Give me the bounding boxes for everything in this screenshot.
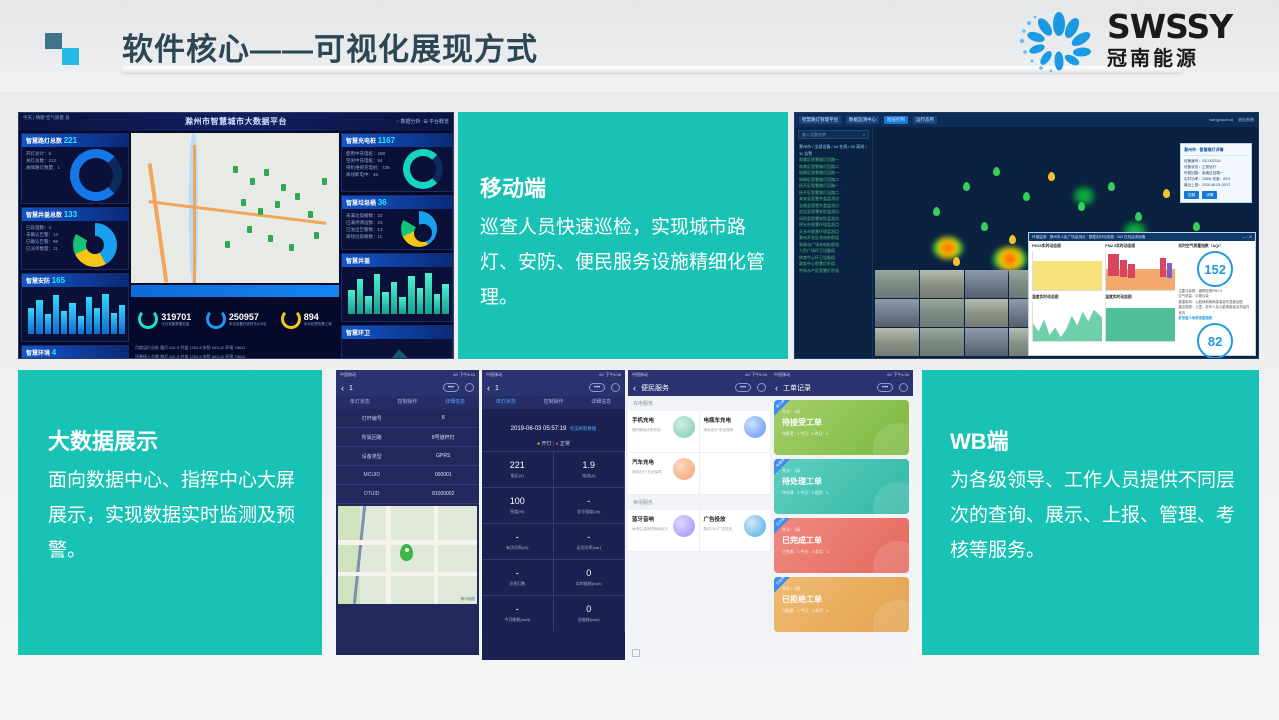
device-tree: 滁州市 / 全部设备 / 44 在线 / 69 离线 / 11 告警 南谯区智慧… [795,142,872,276]
map-marker[interactable] [1135,212,1142,221]
camera-feed[interactable] [965,270,1009,298]
card-header: 智慧井盖 [342,254,452,267]
metrics-grid: 221 电压(V) 1.9 电流(A) 100 亮度(%) - 信号强度(db)… [482,451,625,631]
chart-pm10: PM10实时动态图 温度实时动态图 [1032,244,1102,358]
advertising-icon [744,515,766,537]
card-kv-list: 已处理数：4未确认告警：14已确认告警：99已派单数量：11 [22,221,62,269]
more-icon[interactable]: ••• [589,383,605,392]
dashboard-topbar: 今天 | 晴朗 空气质量 良 滁州市智慧城市大数据平台 ∷ 数据分析 ⊞ 平台概… [19,113,453,131]
timestamp: 2019-06-03 05:57:19 [511,426,567,432]
map-marker[interactable] [322,178,327,185]
area-chart [342,339,452,359]
analytics-title-bar: 环境监测 · 滁州市人民广场监测点 · 数据实时动态图 · 162 在线监测设备… [1029,233,1255,241]
card-count: 共计：1条 [782,527,901,533]
menu-monitor-center[interactable]: 数据监测中心 [846,116,879,124]
aqi-subtitle: 舒适度人体舒适度指数 [1178,316,1252,321]
service-desc: 随时随地手机充电 [632,428,661,433]
chart-pm25: PM2.5实时动态图 湿度实时动态图 [1105,244,1175,358]
comfort-value-circle: 82 [1197,323,1233,358]
map-marker[interactable] [247,226,252,233]
square-cyan-icon [62,48,79,65]
more-icon[interactable]: ••• [877,383,893,392]
service-item[interactable]: 蓝牙音响 休闲生活随时随地欢乐 [628,510,700,552]
metric-cell: 0 实时能耗(kwh) [554,559,626,595]
carrier-label: 中国移动 [774,372,790,378]
card-header: 智慧环境 4 [22,346,128,359]
mobile-block-body: 巡查人员快速巡检，实现城市路灯、安防、便民服务设施精细化管理。 [480,210,766,315]
phone-status-bar: 中国移动 4G 下午5:36 [482,370,625,380]
map-marker[interactable] [1009,235,1016,244]
tree-item[interactable]: 中央水产区智慧灯杆组 [799,268,868,275]
wb-description-block: WB端 为各级领导、工作人员提供不同层次的查询、展示、上报、管理、考核等服务。 [922,370,1259,655]
service-item-empty [700,453,772,495]
dashboard-left-column: 智慧路灯总数 221 开灯总计：8关灯总数：212故障路灯数量：1 智慧井盖总数… [21,133,129,356]
service-title: 汽车充电 [632,458,662,466]
pie-chart [73,223,117,267]
popup-row: 最近上报：2019-06-03 05:57 [1184,182,1248,188]
map-marker[interactable] [1048,172,1055,181]
map-marker[interactable] [295,193,300,200]
tab-control[interactable]: 控制操作 [530,396,578,409]
environment-analytics-window: 环境监测 · 滁州市人民广场监测点 · 数据实时动态图 · 162 在线监测设备… [1028,232,1256,356]
camera-feed[interactable] [920,299,964,327]
card-label: 智慧环卫 [346,328,370,337]
web-topbar: 智慧路灯管理平台 数据监测中心 图层控制 运行态势 wangxiaohua 退出… [795,113,1258,127]
menu-platform[interactable]: 智慧路灯管理平台 [799,116,841,124]
status-right: 4G 下午5:34 [745,372,767,378]
map-marker[interactable] [933,207,940,216]
bar-series [348,270,449,314]
card-value: 36 [378,198,387,207]
target-icon[interactable] [465,383,474,392]
row-value: 81000002 [408,491,480,497]
chart-plot [1032,251,1102,291]
row-value: 8号道杆灯 [408,434,480,441]
carrier-label: 中国移动 [340,372,356,378]
card-header: 智慧井盖总数 133 [22,208,128,221]
service-item[interactable]: 手机充电 随时随地手机充电 [628,411,700,453]
heat-blob [1073,187,1095,205]
table-row: DTUID 81000002 [336,485,479,504]
card-label: 智慧安防 [26,279,50,285]
lamp-state-row: ● 开灯 | ● 正常 [482,440,625,447]
carrier-label: 中国移动 [486,372,502,378]
card-value: 1167 [378,136,395,145]
map-marker[interactable] [1163,189,1170,198]
bar-chart [342,267,452,321]
card-sanitation: 智慧环卫 [341,325,453,359]
status-right: 4G 下午4:34 [887,372,909,378]
stat-label: 今日采集数据总量 [161,322,191,327]
stat-value: 250957 [229,312,266,322]
metric-value: 0 [586,568,591,578]
service-desc: 绿色出行 安全保障 [704,428,734,433]
metric-unit: 亮度(%) [510,509,524,515]
aqi-panel: 实时空气质量指数（AQI） 152 主要污染物：细颗粒物PM2.5 空气质量：中… [1178,244,1252,358]
card-label: 智慧环境 [26,351,50,357]
popup-control-button[interactable]: 控制 [1184,191,1199,199]
card-label: 智慧路灯总数 [26,139,62,145]
card-count: 共计：1条 [782,468,901,474]
stats-bar-label [131,285,339,297]
service-item[interactable]: 电瓶车充电 绿色出行 安全保障 [700,411,772,453]
heat-blob [933,237,963,259]
back-icon[interactable]: ‹ [341,383,344,393]
map-marker[interactable] [953,257,960,266]
workorder-card-pending-process[interactable]: 处理中 共计：1条 待处理工单 待处理：1 今日：0 超时：0 [774,459,909,514]
bluetooth-speaker-icon [673,515,695,537]
service-title: 电瓶车充电 [704,416,734,424]
camera-feed[interactable] [920,328,964,356]
target-icon[interactable] [611,383,620,392]
card-header: 智慧环卫 [342,326,452,339]
card-environment: 智慧环境 4 [21,345,129,359]
workorder-card-completed[interactable]: 已完成 共计：1条 已完成工单 已完成：1 今日：0 本月：1 [774,518,909,573]
phone-status-bar: 中国移动 4G 下午5:43 [336,370,479,380]
metric-value: - [516,604,519,614]
service-title: 广告投放 [704,515,733,523]
service-desc: 绿色出行 安全保障 [632,470,662,475]
service-title: 手机充电 [632,416,661,424]
square-dark-icon [45,33,62,49]
map-marker[interactable] [258,208,263,215]
city-bigdata-dashboard-screenshot: 今天 | 晴朗 空气质量 良 滁州市智慧城市大数据平台 ∷ 数据分析 ⊞ 平台概… [18,112,454,359]
map-marker[interactable] [1023,192,1030,201]
service-item[interactable]: 汽车充电 绿色出行 安全保障 [628,453,700,495]
table-row: 所属回路 8号道杆灯 [336,428,479,447]
card-label: 智慧垃圾桶 [346,201,376,207]
map-marker[interactable] [289,244,294,251]
workorder-card-rejected[interactable]: 已拒绝 共计：1条 已拒绝工单 已拒绝：1 今日：0 本月：1 [774,577,909,632]
map-road [338,572,477,576]
search-icon[interactable]: ⌕ [863,132,865,137]
metric-value: - [587,532,590,542]
ring-chart [281,309,301,329]
map-marker[interactable] [268,235,273,242]
map-road [434,506,438,604]
map-pin-icon [400,544,413,561]
carrier-label: 中国移动 [632,372,648,378]
metric-unit: 电流(A) [582,473,595,479]
chart-plot [1105,251,1175,291]
refresh-link[interactable]: 点击刷新数据 [569,426,596,431]
card-header: 智慧充电桩 1167 [342,134,452,147]
metric-value: 221 [510,460,525,470]
card-label: 智慧充电桩 [346,139,376,145]
footnote: 月度运行分析 路灯 621.5 井盖 1254.6 安防 663.42 环境 7… [135,343,335,352]
aqi-line: 建议措施：儿童、老年人及心脏病患者应停留在室内 [1178,305,1252,316]
camera-feed[interactable] [875,270,919,298]
analytics-title: 环境监测 · 滁州市人民广场监测点 · 数据实时动态图 · 162 在线监测设备 [1032,235,1146,240]
aqi-details: 主要污染物：细颗粒物PM2.5 空气质量：中度污染 健康影响：心脏病和肺病患者症… [1178,289,1252,321]
metric-unit: 电压(V) [511,473,524,479]
metric-cell: 0 总能耗(kwh) [554,595,626,631]
phone-navbar: ‹ 便民服务 ••• [628,380,771,396]
tab-lamp-status[interactable]: 单灯状态 [336,396,384,409]
more-icon[interactable]: ••• [735,383,751,392]
section-leisure-items: 蓝牙音响 休闲生活随时随地欢乐 广告投放 路灯LED广告投放 [628,510,771,552]
metric-value: 0 [586,604,591,614]
phone-title: 工单记录 [783,383,811,393]
page-header: 软件核心——可视化展现方式 [0,0,1279,92]
back-icon[interactable]: ‹ [775,383,778,393]
stat-item: 319701 今日采集数据总量 [138,309,191,329]
more-icon[interactable]: ••• [443,383,459,392]
table-row: 设备类型 GPRS [336,447,479,466]
chart-title: PM10实时动态图 [1032,244,1102,249]
footnote: 设备接入总量 路灯 621.5 井盖 1254.6 安防 663.42 环境 7… [135,352,335,359]
map-marker[interactable] [1193,222,1200,231]
service-desc: 路灯LED广告投放 [704,527,733,532]
brand-text: SWSSY 冠南能源 [1107,10,1232,72]
service-desc: 休闲生活随时随地欢乐 [632,527,668,532]
metric-unit: 今日能耗(kwh) [504,617,530,623]
stat-item: 894 本月处理告警工单 [281,309,332,329]
map-marker[interactable] [981,222,988,231]
bigdata-block-title: 大数据展示 [48,427,300,457]
row-key: DTUID [336,491,408,497]
popup-detail-button[interactable]: 详情 [1202,191,1217,199]
stats-row: 319701 今日采集数据总量 250957 本月设备在线时长(小时) 894 … [131,299,339,339]
card-charging-pile: 智慧充电桩 1167 使用中充电桩：298空闲中充电桩：84待机维修充电桩：73… [341,133,453,192]
camera-feed[interactable] [965,299,1009,327]
state-alarm-label: 正常 [560,441,570,447]
dashboard-topbar-links: ∷ 数据分析 ⊞ 平台概览 [396,118,449,125]
metric-value: - [587,496,590,506]
metric-unit: 无功功率(Var) [576,545,601,551]
map-road [193,145,196,283]
map-marker[interactable] [314,232,319,239]
mobile-block-title: 移动端 [480,174,766,204]
window-controls[interactable]: — ▫ ✕ [1242,235,1252,239]
brand-subtitle: 冠南能源 [1107,46,1232,72]
chart-plot [1105,302,1175,342]
metric-cell: - 今日能耗(kwh) [482,595,554,631]
ring-chart [206,309,226,329]
row-value: 000001 [408,472,480,478]
phone-screenshot-detail: 中国移动 4G 下午5:43 ‹ 1 ••• 单灯状态 控制操作 详细信息 灯杆… [336,370,479,655]
metric-unit: 实时能耗(kwh) [576,581,602,587]
dashboard-center-column: 319701 今日采集数据总量 250957 本月设备在线时长(小时) 894 … [131,133,339,356]
map-marker[interactable] [264,169,269,176]
map-marker[interactable] [993,167,1000,176]
metric-value: - [516,568,519,578]
target-icon[interactable] [757,383,766,392]
phone-navbar: ‹ 1 ••• [482,380,625,396]
phone-screenshot-lamp-status: 中国移动 4G 下午5:36 ‹ 1 ••• 单灯状态 控制操作 详细信息 20… [482,370,625,660]
map-marker[interactable] [250,178,255,185]
stat-label: 本月设备在线时长(小时) [229,322,266,327]
card-kv-list: 使用中充电桩：298空闲中充电桩：84待机维修充电桩：739离线断电中：46 [342,147,394,191]
phone-charging-icon [673,416,695,438]
status-right: 4G 下午5:36 [599,372,621,378]
card-manhole-total: 智慧井盖总数 133 已处理数：4未确认告警：14已确认告警：99已派单数量：1… [21,207,129,270]
city-map [131,133,339,283]
wb-block-title: WB端 [950,427,1235,457]
camera-feed[interactable] [875,299,919,327]
weather-widget: 今天 | 晴朗 空气质量 良 [23,115,70,121]
tab-control[interactable]: 控制操作 [384,396,432,409]
dashboard-title: 滁州市智慧城市大数据平台 [185,116,287,127]
section-charging-label: 充电服务 [628,396,771,411]
section-leisure-label: 休闲服务 [628,495,771,510]
state-on-label: 开灯 [541,441,551,447]
page-title: 软件核心——可视化展现方式 [122,24,538,69]
back-icon[interactable]: ‹ [487,383,490,393]
card-trash-bin: 智慧垃圾桶 36 未满垃圾桶数：23已满待清运数：23已溢出告警数：13离线垃圾… [341,195,453,250]
water-droplet-logo-icon [1015,11,1103,73]
card-value: 165 [52,276,65,285]
camera-feed[interactable] [920,270,964,298]
map-road [148,200,326,225]
map-road [148,163,169,282]
metric-cell: - 无功功率(Var) [554,523,626,559]
target-icon[interactable] [899,383,908,392]
metric-cell: 221 电压(V) [482,451,554,487]
chart-title: 温度实时动态图 [1032,295,1102,300]
donut-chart [70,149,122,201]
chart-plot [1032,302,1102,342]
map-attribution: 腾讯地图 [461,597,475,602]
card-header: 智慧安防 165 [22,274,128,287]
tree-root[interactable]: 滁州市 / 全部设备 / 44 在线 / 69 离线 / 11 告警 [799,144,868,157]
card-label: 智慧井盖总数 [26,213,62,219]
tab-detail[interactable]: 详细信息 [577,396,625,409]
card-header: 智慧路灯总数 221 [22,134,128,147]
camera-wall [875,270,1053,356]
ring-chart [138,309,158,329]
phone-status-bar: 中国移动 4G 下午5:34 [628,370,771,380]
pie-chart [401,211,437,247]
tab-lamp-status[interactable]: 单灯状态 [482,396,530,409]
service-item[interactable]: 广告投放 路灯LED广告投放 [700,510,772,552]
search-placeholder: 输入设备名称 [802,132,826,138]
stat-label: 本月处理告警工单 [304,322,332,327]
row-value: 8 [408,415,480,421]
phone-navbar: ‹ 工单记录 ••• [770,380,913,396]
phone-title: 便民服务 [641,383,669,393]
menu-situation[interactable]: 运行态势 [913,116,937,124]
bigdata-block-body: 面向数据中心、指挥中心大屏展示，实现数据实时监测及预警。 [48,463,300,568]
home-indicator-icon [632,649,640,657]
chart-title: PM2.5实时动态图 [1105,244,1175,249]
row-value: GPRS [408,453,480,459]
gis-heatmap[interactable]: 滁州市 · 智慧路灯详情 设备编号：GD-002318 设备状态：正常运行 所属… [873,127,1258,358]
alarm-icon: ● [556,441,559,447]
user-name[interactable]: wangxiaohua [1209,117,1233,123]
device-tree-sidebar: 输入设备名称 ⌕ 滁州市 / 全部设备 / 44 在线 / 69 离线 / 11… [795,127,873,358]
map-marker[interactable] [308,211,313,218]
map-marker[interactable] [275,201,280,208]
table-row: MCUID 000001 [336,466,479,485]
chart-title: 湿度实时动态图 [1105,295,1175,300]
web-topbar-right: wangxiaohua 退出系统 [1209,117,1254,123]
card-label: 智慧井盖 [346,256,370,265]
map-marker[interactable] [281,184,286,191]
aqi-title: 实时空气质量指数（AQI） [1178,244,1252,249]
metric-unit: 信号强度(db) [577,509,600,515]
aqi-value-circle: 152 [1197,251,1233,287]
analytics-charts-grid: PM10实时动态图 温度实时动态图 PM2.5实时动态图 [1029,241,1255,358]
dashboard-footnotes: 月度运行分析 路灯 621.5 井盖 1254.6 安防 663.42 环境 7… [135,343,335,359]
metric-value: 100 [510,496,525,506]
camera-feed[interactable] [875,328,919,356]
wb-block-body: 为各级领导、工作人员提供不同层次的查询、展示、上报、管理、考核等服务。 [950,463,1235,568]
stat-value: 319701 [161,312,191,322]
card-kv-list: 开灯总计：8关灯总数：212故障路灯数量：1 [22,147,64,203]
metric-unit: 有功功率(W) [506,545,528,551]
metric-cell: - 总亮灯数 [482,559,554,595]
web-platform-screenshot: 智慧路灯管理平台 数据监测中心 图层控制 运行态势 wangxiaohua 退出… [794,112,1259,359]
service-title: 蓝牙音响 [632,515,668,523]
metric-value: 1.9 [582,460,595,470]
decorative-squares [45,33,85,68]
phone-tabs: 单灯状态 控制操作 详细信息 [482,396,625,409]
popup-title: 滁州市 · 智慧路灯详情 [1184,147,1248,156]
phone-screenshot-workorders: 中国移动 4G 下午4:34 ‹ 工单记录 ••• 新工单 共计：1条 待接受工… [770,370,913,660]
metric-cell: 1.9 电流(A) [554,451,626,487]
map-marker[interactable] [1078,202,1085,211]
card-header: 智慧垃圾桶 36 [342,196,452,209]
row-key: 设备类型 [336,453,408,460]
map-marker[interactable] [1108,182,1115,191]
phone-navbar: ‹ 1 ••• [336,380,479,396]
metric-cell: - 有功功率(W) [482,523,554,559]
phone-title: 1 [495,385,499,392]
map-marker[interactable] [233,166,238,173]
bar-series [28,290,125,334]
bar-chart [22,287,128,341]
tab-detail[interactable]: 详细信息 [431,396,479,409]
back-icon[interactable]: ‹ [633,383,636,393]
brand-logo: SWSSY 冠南能源 [1015,8,1261,76]
map-marker[interactable] [963,182,970,191]
phone-status-bar: 中国移动 4G 下午4:34 [770,370,913,380]
brand-name: SWSSY [1107,10,1232,44]
phone-tabs: 单灯状态 控制操作 详细信息 [336,396,479,409]
logout-link[interactable]: 退出系统 [1238,117,1254,123]
stat-value: 894 [304,312,332,322]
table-row: 灯杆编号 8 [336,409,479,428]
phone-map[interactable]: 腾讯地图 [338,506,477,604]
map-road [386,506,391,604]
card-count: 共计：1条 [782,409,901,415]
metric-value: - [516,532,519,542]
metric-cell: 100 亮度(%) [482,487,554,523]
bigdata-description-block: 大数据展示 面向数据中心、指挥中心大屏展示，实现数据实时监测及预警。 [18,370,322,655]
map-marker[interactable] [241,199,246,206]
phone-title: 1 [349,385,353,392]
phone-screenshot-services: 中国移动 4G 下午5:34 ‹ 便民服务 ••• 充电服务 手机充电 随时随地… [628,370,771,660]
section-charging-items: 手机充电 随时随地手机充电 电瓶车充电 绿色出行 安全保障 汽车充电 绿色出行 … [628,411,771,495]
metric-unit: 总能耗(kwh) [578,617,600,623]
card-streetlight-total: 智慧路灯总数 221 开灯总计：8关灯总数：212故障路灯数量：1 [21,133,129,204]
metric-cell: - 信号强度(db) [554,487,626,523]
row-key: 所属回路 [336,434,408,441]
stat-item: 250957 本月设备在线时长(小时) [206,309,266,329]
map-marker[interactable] [225,241,230,248]
card-value: 221 [64,136,77,145]
camera-feed[interactable] [965,328,1009,356]
device-search-input[interactable]: 输入设备名称 ⌕ [798,130,869,139]
card-value: 4 [52,348,56,357]
bulb-icon: ● [537,441,540,447]
device-info-popup: 滁州市 · 智慧路灯详情 设备编号：GD-002318 设备状态：正常运行 所属… [1180,143,1252,203]
menu-layer-control[interactable]: 图层控制 [884,116,908,124]
ebike-charging-icon [744,416,766,438]
workorder-card-pending-accept[interactable]: 新工单 共计：1条 待接受工单 待接受：1 今日：0 昨日：0 [774,400,909,455]
donut-chart [403,149,443,189]
